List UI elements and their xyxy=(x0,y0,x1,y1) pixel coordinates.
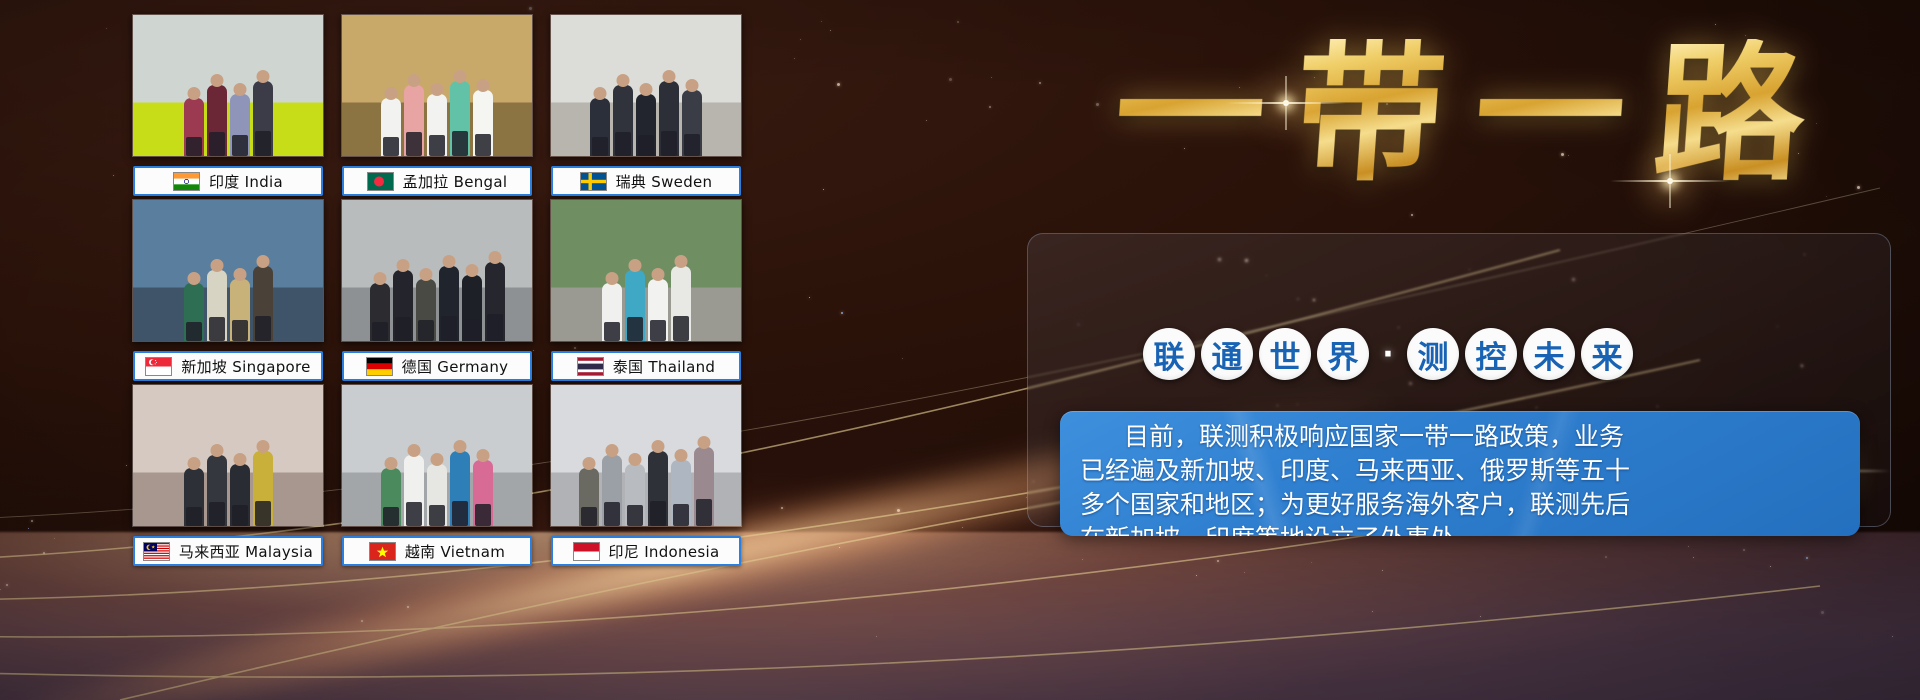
photo-people xyxy=(133,55,323,157)
person-figure xyxy=(671,460,691,526)
country-card-germany[interactable]: 德国 Germany xyxy=(342,199,532,381)
person-figure xyxy=(370,283,390,341)
photo-people xyxy=(551,55,741,157)
banner-stage: 印度 India 孟加拉 Bengal 瑞典 Sweden 新加坡 Singap… xyxy=(0,0,1920,700)
person-figure xyxy=(579,468,599,526)
country-label-text: 泰国 Thailand xyxy=(613,356,716,377)
country-photo-grid: 印度 India 孟加拉 Bengal 瑞典 Sweden 新加坡 Singap… xyxy=(133,14,761,580)
flag-germany-icon xyxy=(366,357,393,376)
flag-thailand-icon xyxy=(577,357,604,376)
headline-char-1: 一 xyxy=(1110,39,1271,189)
person-figure xyxy=(404,85,424,156)
person-figure xyxy=(184,283,204,341)
country-label: 泰国 Thailand xyxy=(551,351,741,381)
country-label-text: 孟加拉 Bengal xyxy=(403,171,508,192)
person-figure xyxy=(416,279,436,341)
person-figure xyxy=(473,90,493,156)
sparkle-1 xyxy=(1283,100,1289,106)
slogan-badges: 联通世界·测控未来 xyxy=(1143,325,1763,383)
person-figure xyxy=(393,270,413,341)
statement-box: 目前，联测积极响应国家一带一路政策，业务已经遍及新加坡、印度、马来西亚、俄罗斯等… xyxy=(1060,411,1860,536)
country-label-text: 印尼 Indonesia xyxy=(609,541,720,562)
slogan-badge-7: 控 xyxy=(1465,328,1517,380)
country-photo[interactable] xyxy=(341,14,533,157)
country-label: 越南 Vietnam xyxy=(342,536,532,566)
country-label-text: 瑞典 Sweden xyxy=(616,171,713,192)
person-figure xyxy=(253,266,273,341)
photo-people xyxy=(133,240,323,342)
person-figure xyxy=(253,451,273,526)
slogan-badge-8: 未 xyxy=(1523,328,1575,380)
person-figure xyxy=(450,81,470,156)
country-card-vietnam[interactable]: 越南 Vietnam xyxy=(342,384,532,566)
country-photo[interactable] xyxy=(341,199,533,342)
headline-char-4: 路 xyxy=(1650,39,1811,189)
flag-india-icon xyxy=(173,172,200,191)
person-figure xyxy=(659,81,679,156)
photo-people xyxy=(342,425,532,527)
headline-char-3: 一 xyxy=(1470,39,1631,189)
country-card-sweden[interactable]: 瑞典 Sweden xyxy=(551,14,741,196)
person-figure xyxy=(253,81,273,156)
flag-sweden-icon xyxy=(580,172,607,191)
photo-people xyxy=(342,55,532,157)
country-label-text: 越南 Vietnam xyxy=(405,541,505,562)
person-figure xyxy=(671,266,691,341)
person-figure xyxy=(613,85,633,156)
photo-people xyxy=(342,240,532,342)
person-figure xyxy=(682,90,702,156)
flag-vietnam-icon xyxy=(369,542,396,561)
country-card-malaysia[interactable]: 马来西亚 Malaysia xyxy=(133,384,323,566)
country-label-text: 新加坡 Singapore xyxy=(181,356,310,377)
person-figure xyxy=(648,451,668,526)
country-photo[interactable] xyxy=(550,384,742,527)
person-figure xyxy=(404,455,424,526)
person-figure xyxy=(230,464,250,526)
slogan-badge-2: 通 xyxy=(1201,328,1253,380)
person-figure xyxy=(625,270,645,341)
country-card-indonesia[interactable]: 印尼 Indonesia xyxy=(551,384,741,566)
headline-char-2: 带 xyxy=(1290,39,1451,189)
person-figure xyxy=(427,464,447,526)
person-figure xyxy=(230,279,250,341)
person-figure xyxy=(590,98,610,156)
person-figure xyxy=(184,468,204,526)
photo-people xyxy=(551,240,741,342)
person-figure xyxy=(427,94,447,156)
country-photo[interactable] xyxy=(550,14,742,157)
person-figure xyxy=(207,455,227,526)
statement-line-3: 多个国家和地区；为更好服务海外客户，联测先后 xyxy=(1080,488,1840,522)
person-figure xyxy=(230,94,250,156)
country-card-singapore[interactable]: 新加坡 Singapore xyxy=(133,199,323,381)
country-label: 新加坡 Singapore xyxy=(133,351,323,381)
slogan-badge-9: 来 xyxy=(1581,328,1633,380)
photo-people xyxy=(551,425,741,527)
person-figure xyxy=(485,262,505,341)
country-photo[interactable] xyxy=(132,384,324,527)
headline-belt-and-road: 一带一路 xyxy=(1015,8,1905,220)
country-label-text: 德国 Germany xyxy=(402,356,509,377)
country-card-thailand[interactable]: 泰国 Thailand xyxy=(551,199,741,381)
person-figure xyxy=(207,85,227,156)
photo-people xyxy=(133,425,323,527)
flag-singapore-icon xyxy=(145,357,172,376)
slogan-separator: · xyxy=(1375,328,1401,380)
country-label-text: 马来西亚 Malaysia xyxy=(179,541,313,562)
statement-line-1: 目前，联测积极响应国家一带一路政策，业务 xyxy=(1080,420,1840,454)
flag-malaysia-icon xyxy=(143,542,170,561)
country-photo[interactable] xyxy=(341,384,533,527)
country-photo[interactable] xyxy=(550,199,742,342)
person-figure xyxy=(602,455,622,526)
country-label: 德国 Germany xyxy=(342,351,532,381)
country-label: 印度 India xyxy=(133,166,323,196)
slogan-badge-6: 测 xyxy=(1407,328,1459,380)
flag-bangladesh-icon xyxy=(367,172,394,191)
slogan-badge-4: 界 xyxy=(1317,328,1369,380)
person-figure xyxy=(381,98,401,156)
person-figure xyxy=(207,270,227,341)
flag-indonesia-icon xyxy=(573,542,600,561)
person-figure xyxy=(439,266,459,341)
country-label: 马来西亚 Malaysia xyxy=(133,536,323,566)
person-figure xyxy=(648,279,668,341)
person-figure xyxy=(381,468,401,526)
sparkle-2 xyxy=(1667,178,1673,184)
slogan-badge-3: 世 xyxy=(1259,328,1311,380)
person-figure xyxy=(694,447,714,526)
country-label: 孟加拉 Bengal xyxy=(342,166,532,196)
person-figure xyxy=(450,451,470,526)
person-figure xyxy=(184,98,204,156)
person-figure xyxy=(602,283,622,341)
person-figure xyxy=(462,275,482,341)
country-label-text: 印度 India xyxy=(209,171,283,192)
country-photo[interactable] xyxy=(132,14,324,157)
country-photo[interactable] xyxy=(132,199,324,342)
slogan-badge-1: 联 xyxy=(1143,328,1195,380)
statement-line-4: 在新加坡、印度等地设立了外事处。 xyxy=(1080,522,1840,536)
person-figure xyxy=(473,460,493,526)
person-figure xyxy=(625,464,645,526)
person-figure xyxy=(636,94,656,156)
country-label: 印尼 Indonesia xyxy=(551,536,741,566)
country-card-india[interactable]: 印度 India xyxy=(133,14,323,196)
country-label: 瑞典 Sweden xyxy=(551,166,741,196)
statement-line-2: 已经遍及新加坡、印度、马来西亚、俄罗斯等五十 xyxy=(1080,454,1840,488)
country-card-bengal[interactable]: 孟加拉 Bengal xyxy=(342,14,532,196)
